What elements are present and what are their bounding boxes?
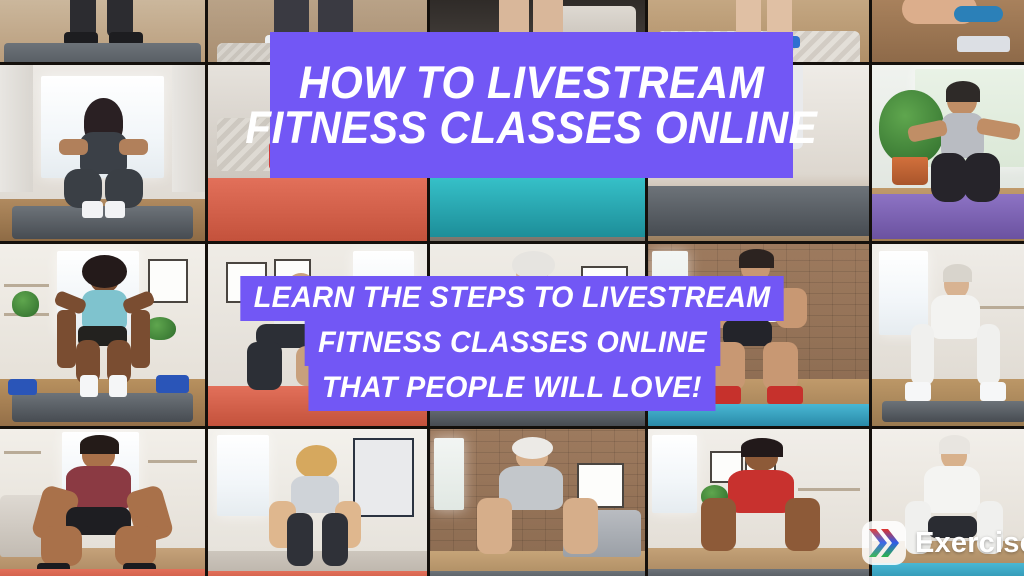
- brand-logo[interactable]: Exercise: [862, 521, 1024, 565]
- title-banner: HOW TO LIVESTREAM FITNESS CLASSES ONLINE: [270, 32, 793, 178]
- photo-tile: [0, 0, 205, 62]
- title-line-2: FITNESS CLASSES ONLINE: [245, 105, 817, 150]
- photo-tile: [208, 429, 427, 576]
- title-line-1: HOW TO LIVESTREAM: [299, 60, 764, 105]
- photo-tile: [0, 429, 205, 576]
- double-chevron-icon: [862, 521, 906, 565]
- photo-tile: [648, 429, 869, 576]
- subtitle-line-3: THAT PEOPLE WILL LOVE!: [309, 366, 716, 411]
- subtitle-block: LEARN THE STEPS TO LIVESTREAM FITNESS CL…: [0, 276, 1024, 411]
- photo-tile: [0, 65, 205, 241]
- photo-tile: [872, 65, 1024, 241]
- subtitle-line-2: FITNESS CLASSES ONLINE: [304, 321, 720, 366]
- subtitle-line-1: LEARN THE STEPS TO LIVESTREAM: [240, 276, 784, 321]
- photo-tile: [872, 0, 1024, 62]
- photo-tile: [430, 429, 645, 576]
- brand-name: Exercise: [915, 527, 1024, 560]
- poster-canvas: HOW TO LIVESTREAM FITNESS CLASSES ONLINE…: [0, 0, 1024, 576]
